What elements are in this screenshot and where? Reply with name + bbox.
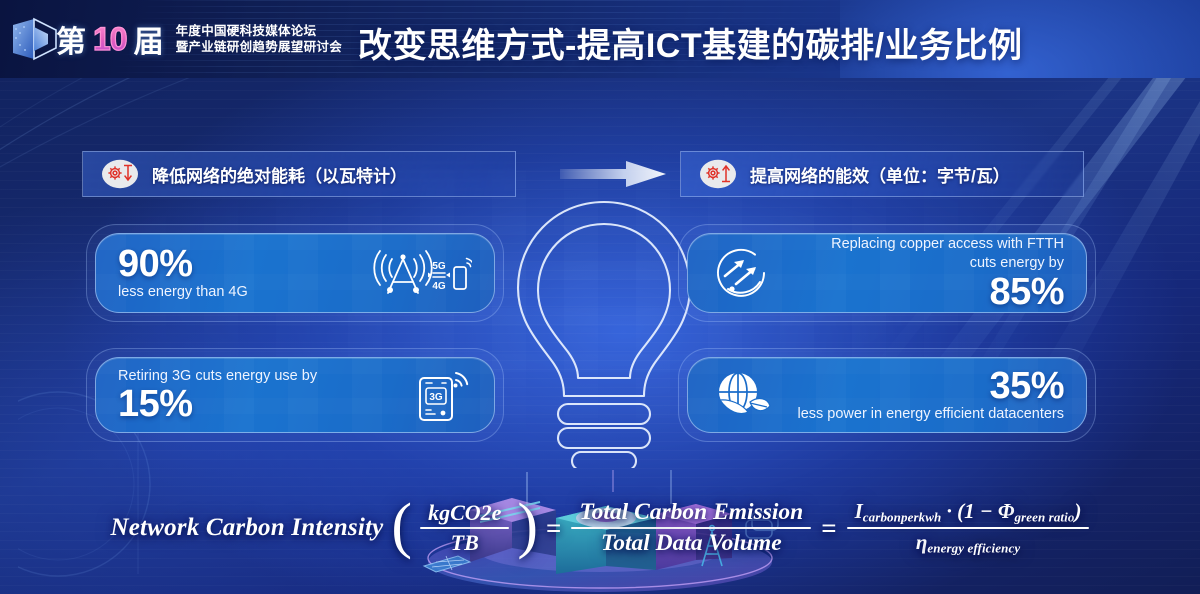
card-2-text: Retiring 3G cuts energy use by 15% [118, 367, 317, 424]
card-1-text: 90% less energy than 4G [118, 245, 248, 302]
card-3-text: Replacing copper access with FTTH cuts e… [831, 235, 1064, 311]
5g-tower-to-phone-icon: 5G 4G [366, 245, 472, 301]
formula-right-num-rest: · (1 − Φ [941, 499, 1014, 523]
logo-subtitle-line1: 年度中国硬科技媒体论坛 [176, 24, 342, 39]
right-arrow-icon [560, 159, 668, 189]
formula-unit-numerator: kgCO2e [420, 499, 509, 527]
category-pill-right-label: 提高网络的能效（单位：字节/瓦） [750, 162, 1010, 187]
formula-right-num-sub2: green ratio [1014, 510, 1074, 525]
category-pill-left-label: 降低网络的绝对能耗（以瓦特计） [152, 162, 407, 187]
formula-mid-fraction: Total Carbon Emission Total Data Volume [571, 498, 811, 558]
3g-phone-signal-icon: 3G [412, 366, 472, 424]
logo-subtitle-line2: 暨产业链研创趋势展望研讨会 [176, 40, 342, 55]
formula-right-den-sub: energy efficiency [927, 541, 1020, 556]
isometric-datacenter-illustration [380, 470, 820, 594]
category-pill-reduce-power[interactable]: 降低网络的绝对能耗（以瓦特计） [82, 151, 516, 197]
formula-right-fraction: Icarbonperkwh · (1 − Φgreen ratio) ηener… [847, 498, 1090, 557]
card-3-percent: 85% [989, 273, 1064, 311]
formula-mid-denominator: Total Data Volume [593, 529, 790, 558]
formula-right-num-main: I [855, 499, 863, 523]
svg-text:3G: 3G [429, 392, 443, 403]
card-1-percent: 90% [118, 245, 248, 283]
svg-text:4G: 4G [432, 281, 446, 292]
formula-right-num-close: ) [1074, 499, 1081, 523]
card-4-caption: less power in energy efficient datacente… [797, 405, 1064, 424]
card-3-caption-line1: Replacing copper access with FTTH [831, 235, 1064, 254]
logo-edition-number: 10 [93, 21, 127, 58]
card-4-text: 35% less power in energy efficient datac… [797, 367, 1064, 424]
logo-prefix: 第 [56, 17, 86, 61]
formula-unit-bar [420, 527, 509, 529]
gear-down-arrow-icon [101, 159, 139, 189]
logo-subtitle: 年度中国硬科技媒体论坛 暨产业链研创趋势展望研讨会 [176, 24, 342, 55]
svg-text:5G: 5G [432, 261, 446, 272]
card-4-percent: 35% [989, 367, 1064, 405]
formula-unit-fraction: kgCO2e TB [420, 499, 509, 557]
globe-leaf-icon [710, 366, 772, 424]
stat-card-ftth[interactable]: Replacing copper access with FTTH cuts e… [678, 224, 1096, 322]
play-chevron-logo-icon [10, 13, 62, 65]
card-2-percent: 15% [118, 385, 317, 423]
formula-mid-numerator: Total Carbon Emission [571, 498, 811, 527]
formula-right-den-main: η [916, 530, 928, 554]
formula-unit-denominator: TB [443, 529, 487, 557]
formula-title: Network Carbon Intensity [111, 514, 384, 542]
stat-card-5g-energy[interactable]: 90% less energy than 4G 5G [86, 224, 504, 322]
fiber-arrows-circle-icon [710, 242, 774, 304]
event-logo-text: 第 10 届 年度中国硬科技媒体论坛 暨产业链研创趋势展望研讨会 [56, 10, 342, 68]
formula-right-numerator: Icarbonperkwh · (1 − Φgreen ratio) [847, 498, 1090, 527]
slide-canvas: 第 10 届 年度中国硬科技媒体论坛 暨产业链研创趋势展望研讨会 改变思维方式-… [0, 0, 1200, 594]
stat-card-3g-retire[interactable]: Retiring 3G cuts energy use by 15% 3G [86, 348, 504, 442]
gear-up-arrow-icon [699, 159, 737, 189]
formula-equals-1: = [546, 513, 561, 544]
formula-right-num-sub: carbonperkwh [863, 510, 942, 525]
stat-card-datacenter[interactable]: 35% less power in energy efficient datac… [678, 348, 1096, 442]
page-title: 改变思维方式-提高ICT基建的碳排/业务比例 [358, 18, 1023, 67]
carbon-intensity-formula: Network Carbon Intensity ( kgCO2e TB ) =… [0, 498, 1200, 558]
category-pill-improve-efficiency[interactable]: 提高网络的能效（单位：字节/瓦） [680, 151, 1084, 197]
formula-equals-2: = [821, 513, 836, 544]
lightbulb-icon [496, 192, 712, 468]
formula-right-bar [847, 527, 1090, 529]
header-bar: 第 10 届 年度中国硬科技媒体论坛 暨产业链研创趋势展望研讨会 改变思维方式-… [0, 0, 1200, 78]
card-1-caption: less energy than 4G [118, 283, 248, 302]
formula-mid-bar [571, 527, 811, 529]
logo-suffix: 届 [134, 17, 164, 61]
formula-right-denominator: ηenergy efficiency [908, 529, 1028, 558]
